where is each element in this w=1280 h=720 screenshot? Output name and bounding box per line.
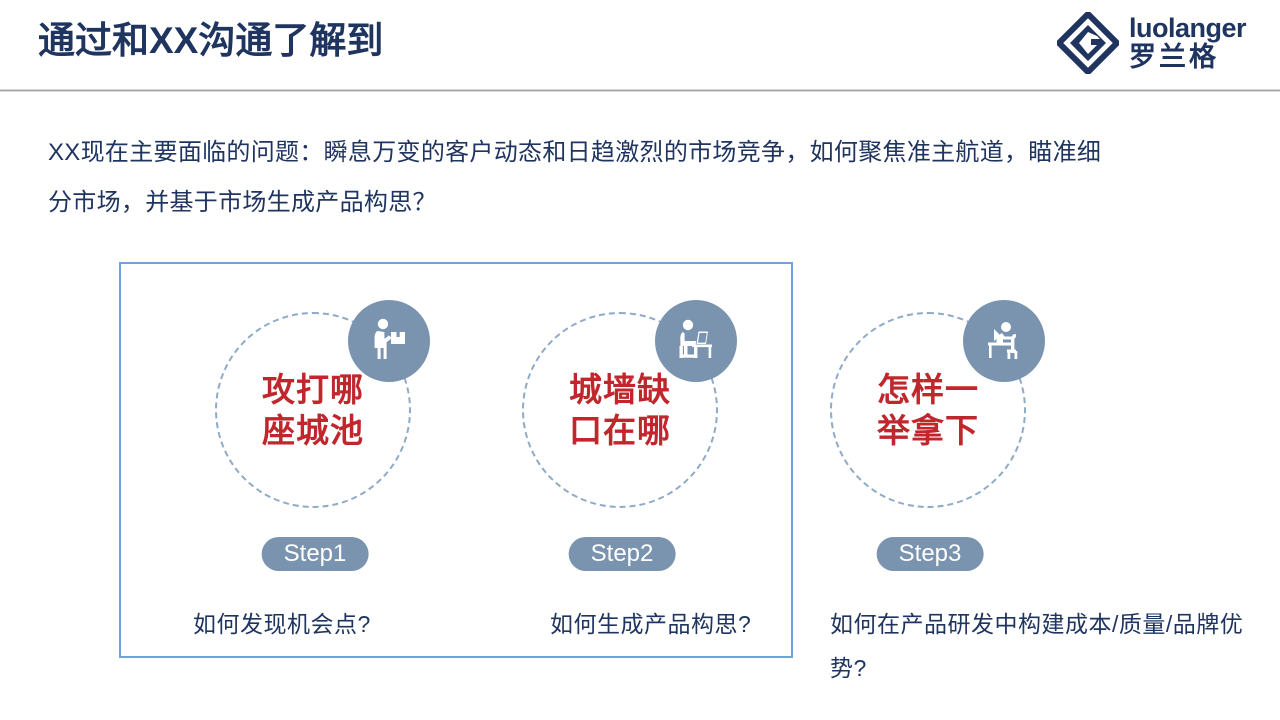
step-pill-3: Step3: [877, 537, 984, 571]
logo-chinese-name: 罗兰格: [1129, 42, 1246, 72]
page-title: 通过和XX沟通了解到: [38, 17, 383, 65]
step-group-2: 城墙缺 口在哪 Step2: [507, 300, 737, 590]
step-badge-1: [348, 300, 430, 382]
person-working-desk-lamp-icon: [978, 315, 1030, 367]
header-divider: [0, 89, 1280, 92]
slide-header: 通过和XX沟通了解到 luolanger 罗兰格: [0, 0, 1280, 92]
person-at-desk-laptop-icon: [670, 315, 722, 367]
step-title-1-line2: 座城池: [262, 410, 364, 451]
step-group-3: 怎样一 举拿下 Step3: [815, 300, 1045, 590]
logo-text-block: luolanger 罗兰格: [1129, 14, 1246, 72]
diamond-g-logo-icon: [1057, 12, 1119, 74]
step-caption-2: 如何生成产品构思?: [550, 602, 830, 646]
logo-latin-name: luolanger: [1129, 14, 1246, 42]
step-title-1-line1: 攻打哪: [262, 369, 364, 410]
step-title-3-line2: 举拿下: [877, 410, 979, 451]
step-badge-3: [963, 300, 1045, 382]
step-pill-2: Step2: [569, 537, 676, 571]
step-title-2-line1: 城墙缺: [569, 369, 671, 410]
step-caption-3: 如何在产品研发中构建成本/质量/品牌优势?: [830, 602, 1270, 690]
step-caption-1: 如何发现机会点?: [193, 602, 473, 646]
person-holding-box-icon: [363, 315, 415, 367]
step-pill-1: Step1: [262, 537, 369, 571]
step-badge-2: [655, 300, 737, 382]
step-title-3-line1: 怎样一: [877, 369, 979, 410]
brand-logo: luolanger 罗兰格: [1057, 8, 1246, 78]
lead-paragraph: XX现在主要面临的问题：瞬息万变的客户动态和日趋激烈的市场竞争，如何聚焦准主航道…: [48, 128, 1108, 228]
step-title-2-line2: 口在哪: [569, 410, 671, 451]
step-group-1: 攻打哪 座城池 Step1: [200, 300, 430, 590]
